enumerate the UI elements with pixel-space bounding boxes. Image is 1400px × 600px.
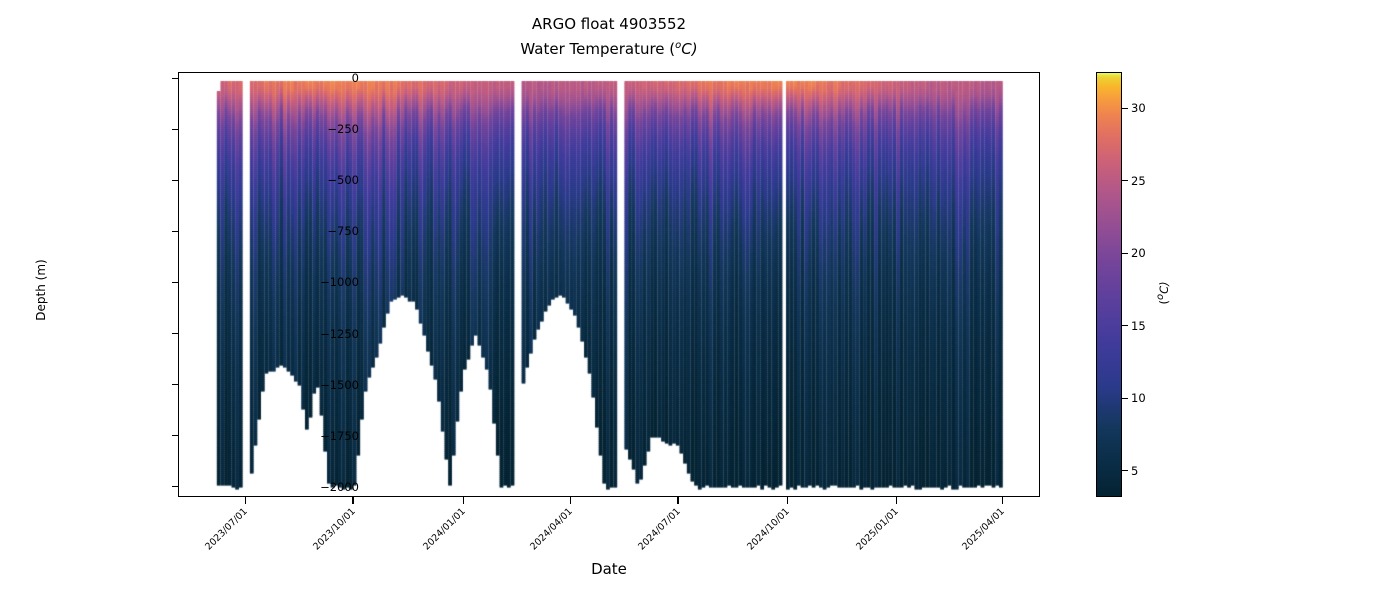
x-tick-label: 2023/07/01 bbox=[204, 506, 251, 553]
figure-title: ARGO float 4903552 Water Temperature (oC… bbox=[178, 14, 1040, 60]
x-tick-mark bbox=[352, 497, 353, 504]
y-axis-label: Depth (m) bbox=[34, 160, 48, 420]
x-tick-mark bbox=[463, 497, 464, 504]
colorbar-label-suffix: C) bbox=[1157, 281, 1171, 294]
colorbar-tick-label: 10 bbox=[1131, 391, 1146, 405]
y-tick-mark bbox=[172, 282, 179, 283]
y-tick-label: −1250 bbox=[320, 327, 359, 341]
colorbar-tick-label: 20 bbox=[1131, 246, 1146, 260]
figure-title-line-1: ARGO float 4903552 bbox=[178, 14, 1040, 35]
colorbar-tick-label: 30 bbox=[1131, 101, 1146, 115]
colorbar-tick-label: 15 bbox=[1131, 319, 1146, 333]
colorbar-tick-mark bbox=[1122, 470, 1128, 471]
y-tick-label: −500 bbox=[327, 173, 359, 187]
x-tick-label: 2024/07/01 bbox=[636, 506, 683, 553]
x-tick-label: 2024/10/01 bbox=[746, 506, 793, 553]
colorbar-tick-label: 5 bbox=[1131, 464, 1138, 478]
y-tick-mark bbox=[172, 333, 179, 334]
y-tick-mark bbox=[172, 231, 179, 232]
y-tick-mark bbox=[172, 435, 179, 436]
x-tick-label: 2023/10/01 bbox=[311, 506, 358, 553]
y-tick-label: −1000 bbox=[320, 275, 359, 289]
colorbar-tick-label: 25 bbox=[1131, 174, 1146, 188]
colorbar-tick-mark bbox=[1122, 325, 1128, 326]
x-tick-label: 2024/04/01 bbox=[528, 506, 575, 553]
colorbar-tick-mark bbox=[1122, 253, 1128, 254]
colorbar-gradient bbox=[1097, 73, 1121, 496]
colorbar-degree-superscript-icon: o bbox=[1155, 294, 1166, 300]
y-tick-label: −1500 bbox=[320, 378, 359, 392]
x-axis-label: Date bbox=[178, 560, 1040, 578]
y-tick-label: −750 bbox=[327, 224, 359, 238]
x-tick-mark bbox=[245, 497, 246, 504]
y-tick-mark bbox=[172, 180, 179, 181]
x-tick-mark bbox=[1002, 497, 1003, 504]
colorbar-tick-mark bbox=[1122, 398, 1128, 399]
y-tick-label: −2000 bbox=[320, 480, 359, 494]
colorbar-tick-mark bbox=[1122, 180, 1128, 181]
x-tick-label: 2024/01/01 bbox=[422, 506, 469, 553]
y-tick-label: 0 bbox=[352, 71, 359, 85]
y-tick-mark bbox=[172, 78, 179, 79]
heatmap-area bbox=[179, 73, 1039, 496]
figure-title-line-2: Water Temperature (oC) bbox=[178, 35, 1040, 60]
y-tick-mark bbox=[172, 486, 179, 487]
temperature-heatmap-canvas bbox=[179, 73, 1039, 496]
y-tick-mark bbox=[172, 129, 179, 130]
colorbar-label: (oC) bbox=[1155, 233, 1171, 353]
figure-title-line-2-suffix: C) bbox=[681, 40, 697, 58]
colorbar bbox=[1096, 72, 1122, 497]
y-tick-label: −1750 bbox=[320, 429, 359, 443]
y-tick-label: −250 bbox=[327, 122, 359, 136]
plot-axes bbox=[178, 72, 1040, 497]
y-tick-mark bbox=[172, 384, 179, 385]
x-tick-label: 2025/01/01 bbox=[854, 506, 901, 553]
figure-title-line-2-prefix: Water Temperature ( bbox=[520, 40, 675, 58]
colorbar-label-prefix: ( bbox=[1157, 300, 1171, 305]
x-tick-mark bbox=[896, 497, 897, 504]
x-tick-mark bbox=[570, 497, 571, 504]
colorbar-tick-mark bbox=[1122, 108, 1128, 109]
argo-temperature-figure: ARGO float 4903552 Water Temperature (oC… bbox=[0, 0, 1400, 600]
x-tick-mark bbox=[787, 497, 788, 504]
x-tick-mark bbox=[677, 497, 678, 504]
x-tick-label: 2025/04/01 bbox=[960, 506, 1007, 553]
